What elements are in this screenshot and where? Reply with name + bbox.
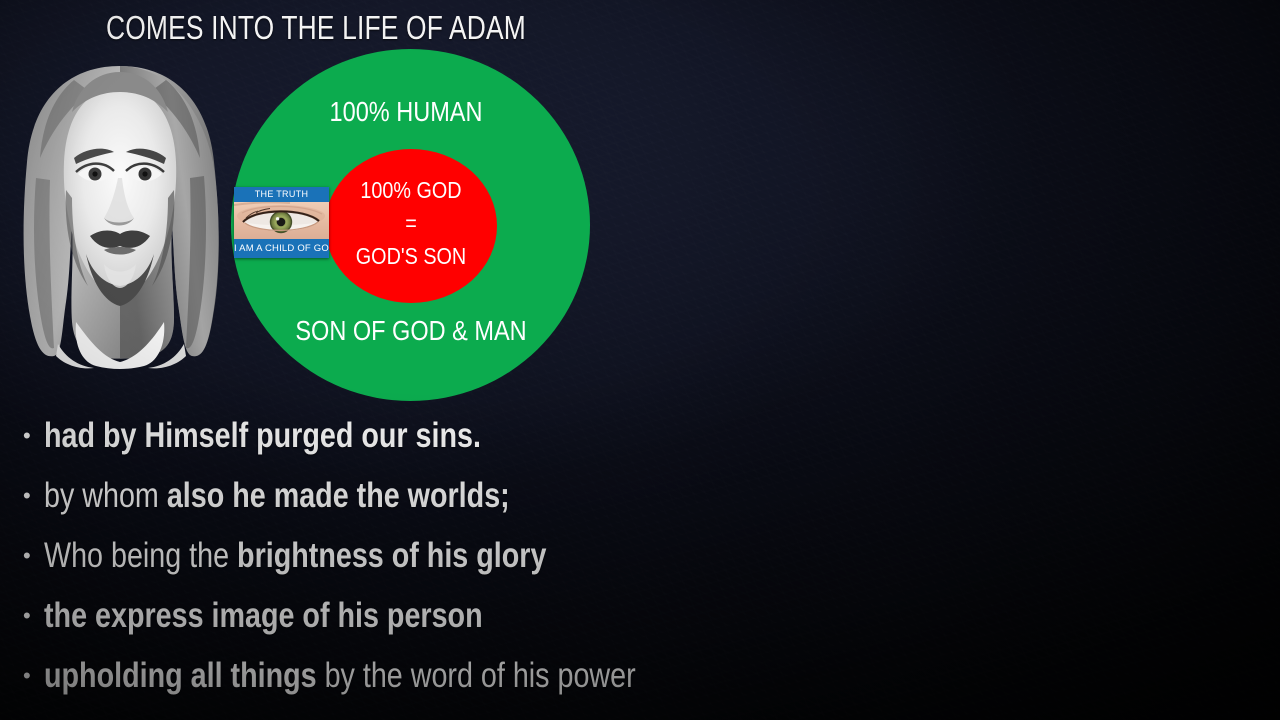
list-item-text-bold: the express image of his person [44, 596, 483, 635]
list-item: • had by Himself purged our sins. [18, 406, 1258, 466]
list-item-text-bold: brightness of his glory [237, 536, 546, 575]
list-item-text: Who being the brightness of his glory [44, 536, 546, 576]
list-item-text: had by Himself purged our sins. [44, 416, 481, 456]
bullet-marker-icon: • [18, 605, 44, 627]
jesus-watercolor-portrait [8, 58, 232, 370]
truth-eye-card[interactable]: THE TRUTH [234, 187, 329, 258]
list-item-text-light: Who being the [44, 536, 237, 575]
list-item-text-bold: also he made the worlds; [167, 476, 510, 515]
list-item: • Who being the brightness of his glory [18, 526, 1258, 586]
list-item-text: the express image of his person [44, 596, 483, 636]
human-eye-photo [234, 202, 329, 239]
bullet-marker-icon: • [18, 485, 44, 507]
inner-circle-line-3: GOD'S SON [325, 243, 497, 269]
outer-circle-top-label: 100% HUMAN [280, 96, 532, 128]
list-item: • upholding all things by the word of hi… [18, 646, 1258, 706]
truth-eye-card-footer: I AM A CHILD OF GOD [234, 239, 329, 258]
bullet-marker-icon: • [18, 425, 44, 447]
list-item-text: by whom also he made the worlds; [44, 476, 510, 516]
bullet-list: • had by Himself purged our sins. • by w… [18, 406, 1258, 706]
outer-circle-bottom-label: SON OF GOD & MAN [285, 315, 537, 347]
truth-eye-card-header: THE TRUTH [234, 187, 329, 202]
page-title: COMES INTO THE LIFE OF ADAM [106, 9, 526, 47]
bullet-marker-icon: • [18, 665, 44, 687]
list-item: • the express image of his person [18, 586, 1258, 646]
bullet-marker-icon: • [18, 545, 44, 567]
list-item-text-light: by whom [44, 476, 167, 515]
inner-circle-line-1: 100% GOD [325, 177, 497, 203]
list-item: • by whom also he made the worlds; [18, 466, 1258, 526]
slide-canvas: COMES INTO THE LIFE OF ADAM [0, 0, 1280, 720]
inner-circle-line-2: = [325, 210, 497, 236]
list-item-text-bold: upholding all things [44, 656, 317, 695]
list-item-text-bold: had by Himself purged our sins. [44, 416, 481, 455]
list-item-text-trailing: by the word of his power [317, 656, 636, 695]
list-item-text: upholding all things by the word of his … [44, 656, 636, 696]
